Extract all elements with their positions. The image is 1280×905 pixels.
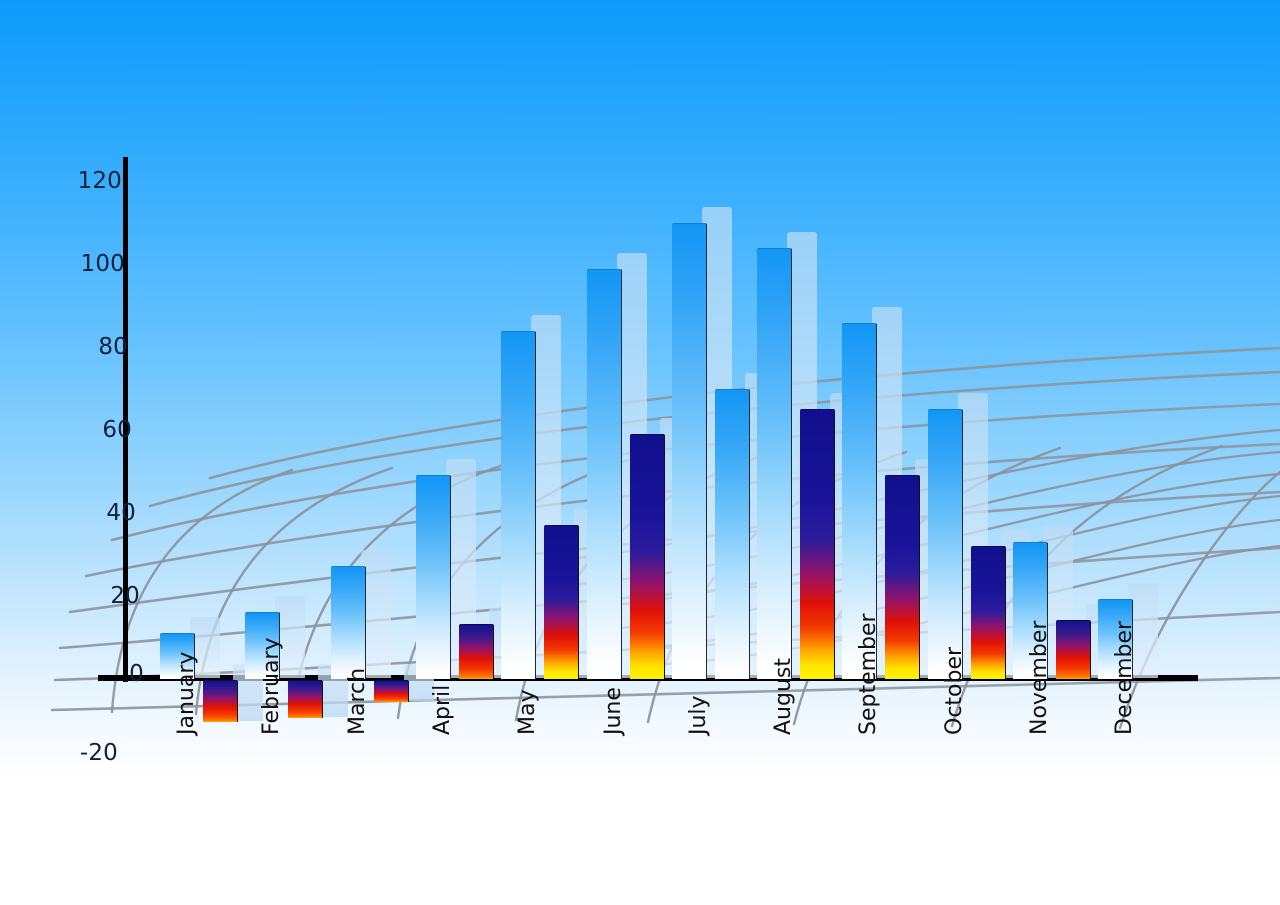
x-axis-label-september: September [856,613,881,735]
bar-series2-february[interactable] [288,680,323,718]
x-axis-label-march: March [345,668,370,735]
y-tick-label-80: 80 [58,334,128,360]
x-axis-label-november: November [1027,621,1052,735]
y-tick-label-20: 20 [70,583,140,609]
y-tick-label-60: 60 [62,417,132,443]
x-axis-label-august: August [771,658,796,735]
x-axis-label-october: October [942,647,967,735]
bar-series2-april[interactable] [459,624,494,679]
x-axis-label-july: July [686,695,711,735]
y-tick-label-40: 40 [66,500,136,526]
bar-series1-october[interactable] [928,409,963,679]
bar-series1-july[interactable] [672,223,707,679]
y-tick-label-120: 120 [52,168,122,194]
bar-series1-may[interactable] [501,331,536,679]
bar-series2-january[interactable] [203,680,238,722]
x-axis-label-january: January [174,652,199,735]
bar-series2-november[interactable] [1056,620,1091,679]
y-tick-label-0: 0 [74,661,144,687]
y-tick-label-100: 100 [55,251,125,277]
bar-series2-may[interactable] [544,525,579,679]
x-axis-label-may: May [515,690,540,735]
plot-area: 120 100 80 60 40 20 0 -20 JanuaryFebruar… [0,0,1280,905]
bar-series1-april[interactable] [416,475,451,679]
x-axis-label-december: December [1112,621,1137,735]
y-tick-label-neg20: -20 [48,740,118,766]
bar-series1-june[interactable] [587,269,622,679]
x-axis-label-april: April [430,685,455,735]
bar-series1-august[interactable] [757,248,792,679]
bar-series2-july[interactable] [715,389,750,679]
bar-series1-march[interactable] [331,566,366,679]
bar-series2-october[interactable] [971,546,1006,679]
x-axis-label-june: June [601,687,626,735]
bar-series2-august[interactable] [800,409,835,679]
x-axis-label-february: February [259,638,284,736]
bar-series2-september[interactable] [885,475,920,679]
bar-series2-march[interactable] [374,680,409,702]
chart-canvas: 120 100 80 60 40 20 0 -20 JanuaryFebruar… [0,0,1280,905]
bar-series2-june[interactable] [630,434,665,679]
